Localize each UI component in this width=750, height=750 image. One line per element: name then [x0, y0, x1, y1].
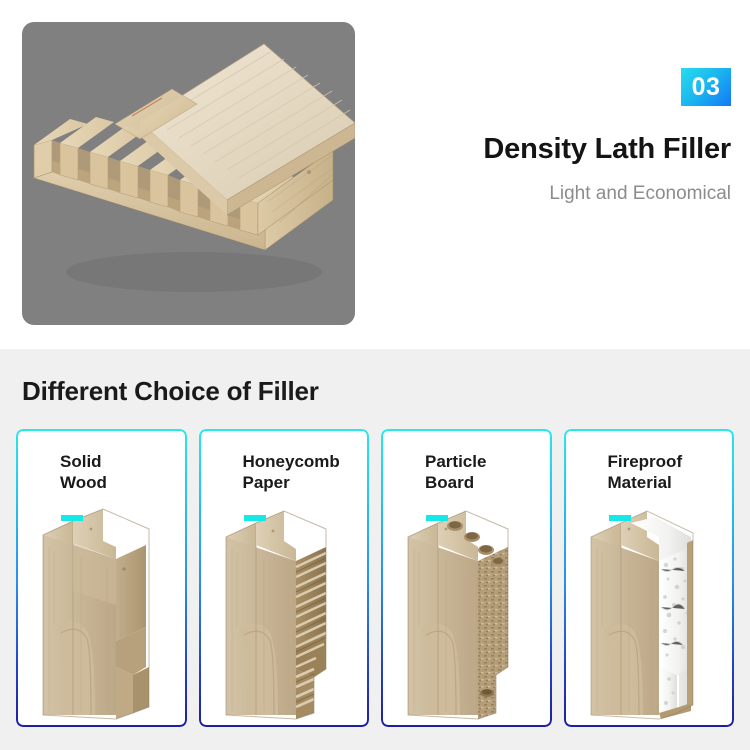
page-title: Density Lath Filler — [311, 133, 731, 166]
filler-card-label: Fireproof Material — [608, 451, 683, 494]
filler-card-label: Solid Wood — [60, 451, 107, 494]
promo-page: 03 Density Lath Filler Light and Economi… — [0, 0, 750, 750]
filler-card-solid-wood[interactable]: Solid Wood — [16, 429, 187, 727]
filler-card-particle-board[interactable]: Particle Board — [381, 429, 552, 727]
accent-bar — [61, 515, 83, 521]
filler-card-label: Honeycomb Paper — [243, 451, 340, 494]
page-subtitle: Light and Economical — [311, 183, 731, 205]
fireproof-material-door-cross-section-image — [564, 507, 735, 727]
filler-options-section: Different Choice of Filler Solid Wood — [0, 349, 750, 750]
section-heading: Different Choice of Filler — [22, 376, 319, 407]
filler-card-fireproof-material[interactable]: Fireproof Material — [564, 429, 735, 727]
filler-cards-row: Solid Wood — [16, 429, 734, 727]
accent-bar — [426, 515, 448, 521]
hero-image-frame — [22, 22, 355, 325]
hero-section: 03 Density Lath Filler Light and Economi… — [0, 0, 750, 349]
honeycomb-paper-door-cross-section-image — [199, 507, 370, 727]
accent-bar — [244, 515, 266, 521]
section-number-badge: 03 — [681, 68, 731, 106]
filler-card-honeycomb-paper[interactable]: Honeycomb Paper — [199, 429, 370, 727]
accent-bar — [609, 515, 631, 521]
lath-core-door-panel-cutaway-image — [22, 22, 355, 325]
solid-wood-door-cross-section-image — [16, 507, 187, 727]
filler-card-label: Particle Board — [425, 451, 486, 494]
particle-board-door-cross-section-image — [381, 507, 552, 727]
